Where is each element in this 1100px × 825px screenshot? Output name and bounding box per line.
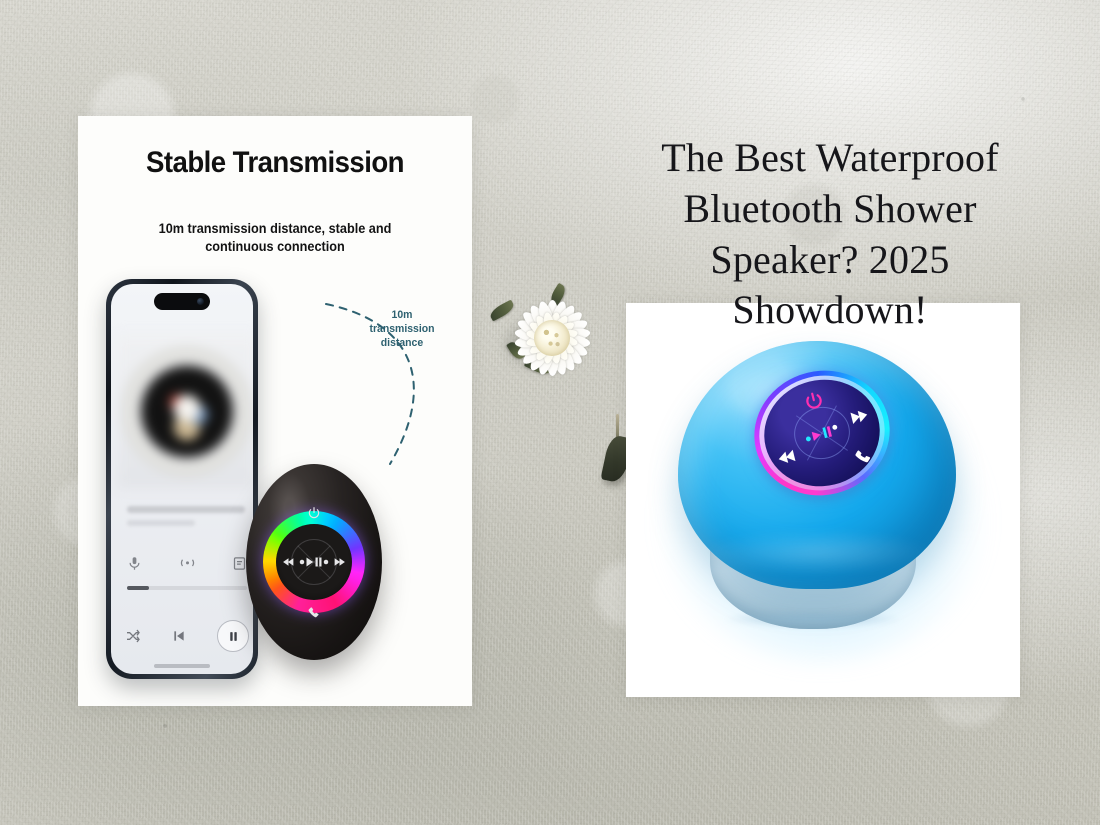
right-product-image-card xyxy=(626,303,1020,697)
volume-fill xyxy=(127,586,149,590)
transmission-distance-label: 10m transmission distance xyxy=(358,308,445,350)
home-indicator xyxy=(154,664,210,668)
next-track-icon[interactable] xyxy=(847,404,871,428)
black-shower-speaker xyxy=(246,464,382,660)
microphone-icon[interactable] xyxy=(127,556,142,571)
volume-slider[interactable] xyxy=(127,586,247,592)
album-artwork xyxy=(117,334,253,489)
track-title-line xyxy=(127,506,245,513)
next-track-icon[interactable] xyxy=(333,556,346,569)
track-artist-line xyxy=(127,520,195,526)
dynamic-island xyxy=(154,293,210,310)
left-product-image-card: Stable Transmission 10m transmission dis… xyxy=(78,116,472,706)
slide-canvas: The Best Waterproof Bluetooth Shower Spe… xyxy=(0,0,1100,825)
pause-button[interactable] xyxy=(217,620,249,652)
play-pause-icon[interactable] xyxy=(299,556,329,568)
stable-transmission-subheading: 10m transmission distance, stable and co… xyxy=(133,220,417,256)
call-icon[interactable] xyxy=(852,446,875,469)
power-icon[interactable] xyxy=(307,506,321,520)
call-icon[interactable] xyxy=(307,606,321,620)
page-title: The Best Waterproof Bluetooth Shower Spe… xyxy=(604,133,1056,336)
smartphone-mockup xyxy=(106,279,258,679)
phone-quick-actions xyxy=(127,556,247,571)
track-info-placeholder xyxy=(127,506,245,533)
previous-track-icon[interactable] xyxy=(775,445,799,469)
shuffle-icon[interactable] xyxy=(125,628,141,644)
phone-screen xyxy=(111,284,253,674)
volume-track xyxy=(127,586,247,590)
black-speaker-control-panel xyxy=(246,464,382,660)
previous-track-icon[interactable] xyxy=(171,628,187,644)
previous-track-icon[interactable] xyxy=(282,556,295,569)
lyrics-icon[interactable] xyxy=(232,556,247,571)
white-chrysanthemum-flower xyxy=(497,283,607,393)
airplay-icon[interactable] xyxy=(180,556,195,571)
stable-transmission-heading: Stable Transmission xyxy=(94,146,456,180)
phone-playback-controls xyxy=(125,620,249,652)
blue-speaker-photo xyxy=(626,303,1020,697)
flower-center xyxy=(534,320,570,356)
